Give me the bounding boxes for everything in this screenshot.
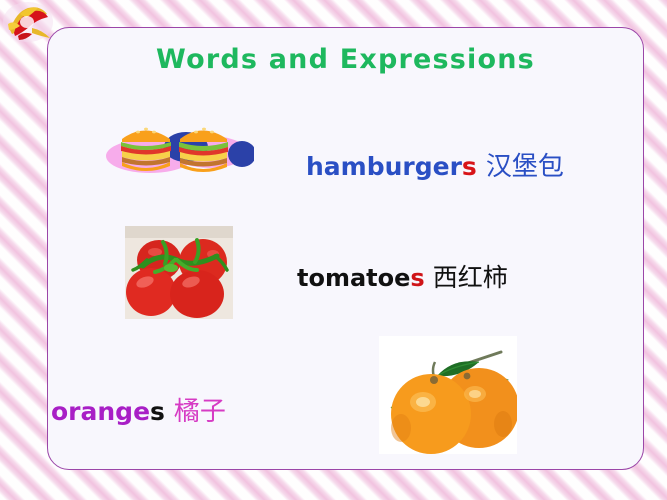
tomatoes-image [125,226,233,319]
english-plural-suffix-hamburgers: s [462,152,477,181]
hamburgers-image [102,106,254,184]
word-label-hamburgers: hamburgers汉堡包 [306,154,564,180]
content-panel: Words and Expressions [47,27,644,470]
english-word-tomatoe: tomatoe [297,264,410,292]
chinese-word-hamburger: 汉堡包 [486,152,564,182]
english-word-orange: orange [51,397,150,426]
english-word-hamburger: hamburger [306,152,462,181]
ribbon-clipart-icon [2,0,54,46]
page-title: Words and Expressions [48,44,643,75]
word-label-tomatoes: tomatoes西红柿 [297,265,508,291]
english-plural-suffix-oranges: s [150,397,165,426]
slide-canvas: Words and Expressions [0,0,667,500]
chinese-word-tomato: 西红柿 [433,263,508,292]
chinese-word-orange: 橘子 [174,397,226,427]
oranges-image [379,336,517,454]
word-label-oranges: oranges橘子 [51,399,226,425]
english-plural-suffix-tomatoes: s [410,264,424,292]
